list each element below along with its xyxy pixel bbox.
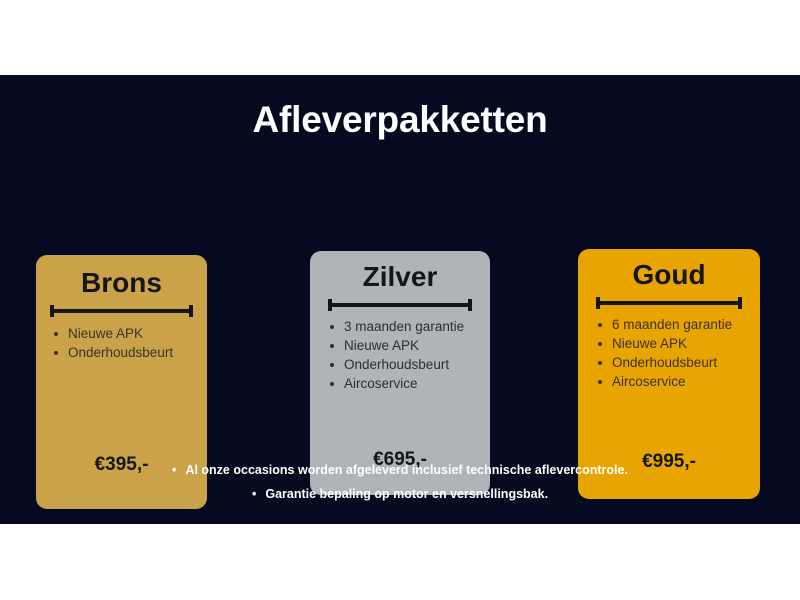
slide-canvas: Afleverpakketten Brons Nieuwe APK Onderh… — [0, 0, 800, 600]
package-title-goud: Goud — [578, 261, 760, 289]
list-item: Nieuwe APK — [50, 324, 173, 343]
divider-cap-right-icon — [468, 299, 472, 311]
divider-icon-zilver — [328, 299, 472, 311]
list-item: Aircoservice — [594, 372, 732, 391]
package-title-brons: Brons — [36, 269, 207, 297]
package-title-zilver: Zilver — [310, 263, 490, 291]
footer-notes: Al onze occasions worden afgeleverd incl… — [0, 458, 800, 507]
divider-icon-brons — [50, 305, 193, 317]
list-item: Aircoservice — [326, 374, 464, 393]
list-item: Onderhoudsbeurt — [50, 343, 173, 362]
feature-list-brons: Nieuwe APK Onderhoudsbeurt — [50, 324, 173, 362]
page-title: Afleverpakketten — [0, 101, 800, 138]
list-item: Onderhoudsbeurt — [594, 353, 732, 372]
divider-cap-right-icon — [189, 305, 193, 317]
feature-list-goud: 6 maanden garantie Nieuwe APK Onderhouds… — [594, 315, 732, 392]
pricing-slide: Afleverpakketten Brons Nieuwe APK Onderh… — [0, 75, 800, 524]
feature-list-zilver: 3 maanden garantie Nieuwe APK Onderhouds… — [326, 317, 464, 394]
divider-bar-icon — [328, 303, 472, 307]
list-item: Nieuwe APK — [326, 336, 464, 355]
divider-icon-goud — [596, 297, 742, 309]
footer-note: Garantie bepaling op motor en versnellin… — [0, 482, 800, 506]
list-item: 6 maanden garantie — [594, 315, 732, 334]
divider-bar-icon — [596, 301, 742, 305]
divider-bar-icon — [50, 309, 193, 313]
list-item: Onderhoudsbeurt — [326, 355, 464, 374]
divider-cap-right-icon — [738, 297, 742, 309]
list-item: 3 maanden garantie — [326, 317, 464, 336]
list-item: Nieuwe APK — [594, 334, 732, 353]
footer-note: Al onze occasions worden afgeleverd incl… — [0, 458, 800, 482]
